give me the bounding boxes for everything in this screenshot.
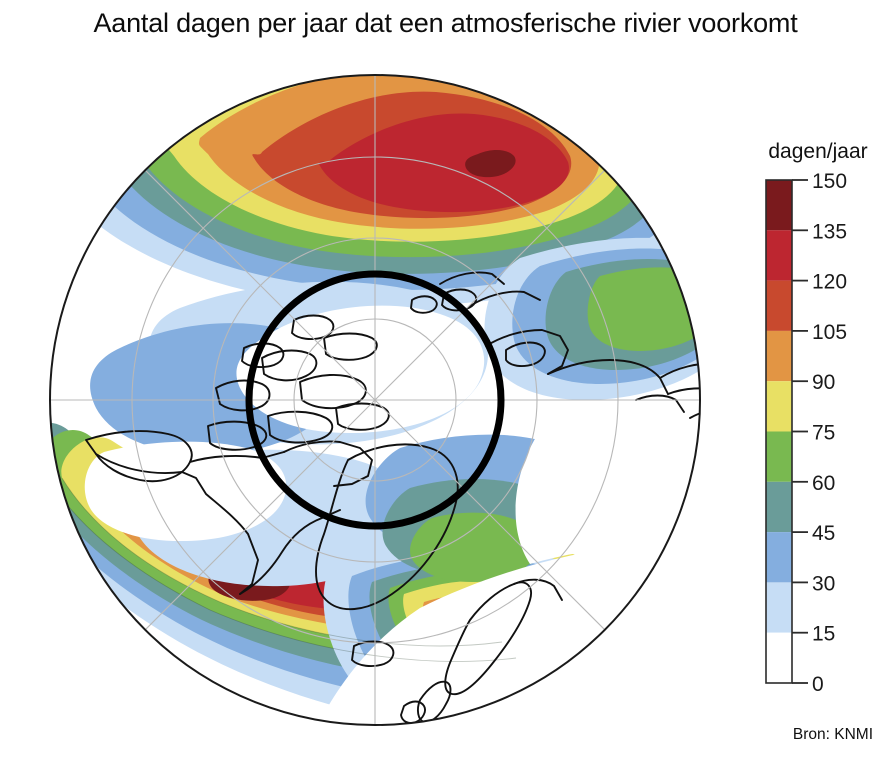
colorbar-tick-label: 120 (812, 271, 847, 294)
colorbar-band-60-75 (766, 432, 792, 482)
colorbar-band-15-30 (766, 582, 792, 632)
colorbar-tick-labels: 150 135 120 105 90 75 60 45 30 15 0 (812, 170, 847, 696)
colorbar-tick-label: 135 (812, 220, 847, 243)
colorbar-panel: dagen/jaar (740, 48, 891, 760)
colorbar-tick-label: 75 (812, 422, 835, 445)
page-title: Aantal dagen per jaar dat een atmosferis… (0, 8, 891, 39)
colorbar: 150 135 120 105 90 75 60 45 30 15 0 (740, 48, 891, 760)
colorbar-tick-label: 60 (812, 472, 835, 495)
colorbar-band-75-90 (766, 381, 792, 431)
graticule (50, 75, 700, 725)
colorbar-band-0-15 (766, 633, 792, 683)
polar-map (0, 48, 740, 760)
colorbar-tick-label: 105 (812, 321, 847, 344)
colorbar-tick-label: 90 (812, 371, 835, 394)
colorbar-tick-label: 15 (812, 623, 835, 646)
colorbar-tick-label: 150 (812, 170, 847, 193)
colorbar-band-120-135 (766, 230, 792, 280)
colorbar-bands (766, 180, 792, 683)
colorbar-band-105-120 (766, 281, 792, 331)
source-credit: Bron: KNMI (793, 726, 873, 744)
contour-band-siberia (484, 238, 740, 400)
colorbar-tick-label: 45 (812, 522, 835, 545)
map-panel (0, 48, 740, 760)
colorbar-tick-label: 0 (812, 673, 824, 696)
colorbar-band-135-150 (766, 180, 792, 230)
colorbar-band-90-105 (766, 331, 792, 381)
colorbar-ticks (792, 180, 808, 683)
colorbar-band-45-60 (766, 482, 792, 532)
figure-root: Aantal dagen per jaar dat een atmosferis… (0, 0, 891, 760)
colorbar-band-30-45 (766, 532, 792, 582)
colorbar-tick-label: 30 (812, 572, 835, 595)
